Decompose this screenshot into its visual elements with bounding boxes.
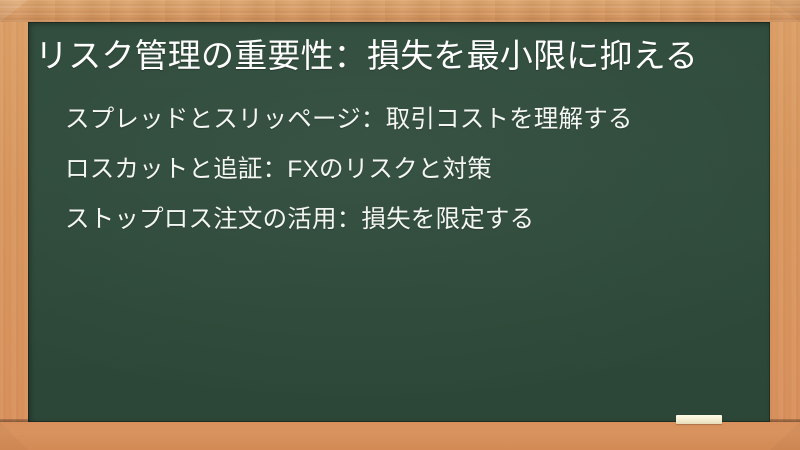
chalkboard-surface: リスク管理の重要性：損失を最小限に抑える スプレッドとスリッページ：取引コストを… <box>28 22 770 422</box>
topic-list: スプレッドとスリッページ：取引コストを理解する ロスカットと追証：FXのリスクと… <box>35 102 736 238</box>
page-title: リスク管理の重要性：損失を最小限に抑える <box>35 32 736 80</box>
frame-rail-bottom-ledge <box>0 422 800 450</box>
frame-corner-top-right <box>770 0 800 22</box>
list-item: ストップロス注文の活用：損失を限定する <box>65 202 736 238</box>
frame-corner-bottom-left <box>0 422 28 450</box>
frame-rail-top <box>0 0 800 22</box>
frame-corner-bottom-right <box>770 422 800 450</box>
blackboard-frame: リスク管理の重要性：損失を最小限に抑える スプレッドとスリッページ：取引コストを… <box>0 0 800 450</box>
chalk-stick-icon <box>676 415 722 424</box>
frame-corner-top-left <box>0 0 28 22</box>
list-item: ロスカットと追証：FXのリスクと対策 <box>65 152 736 188</box>
list-item: スプレッドとスリッページ：取引コストを理解する <box>65 102 736 138</box>
